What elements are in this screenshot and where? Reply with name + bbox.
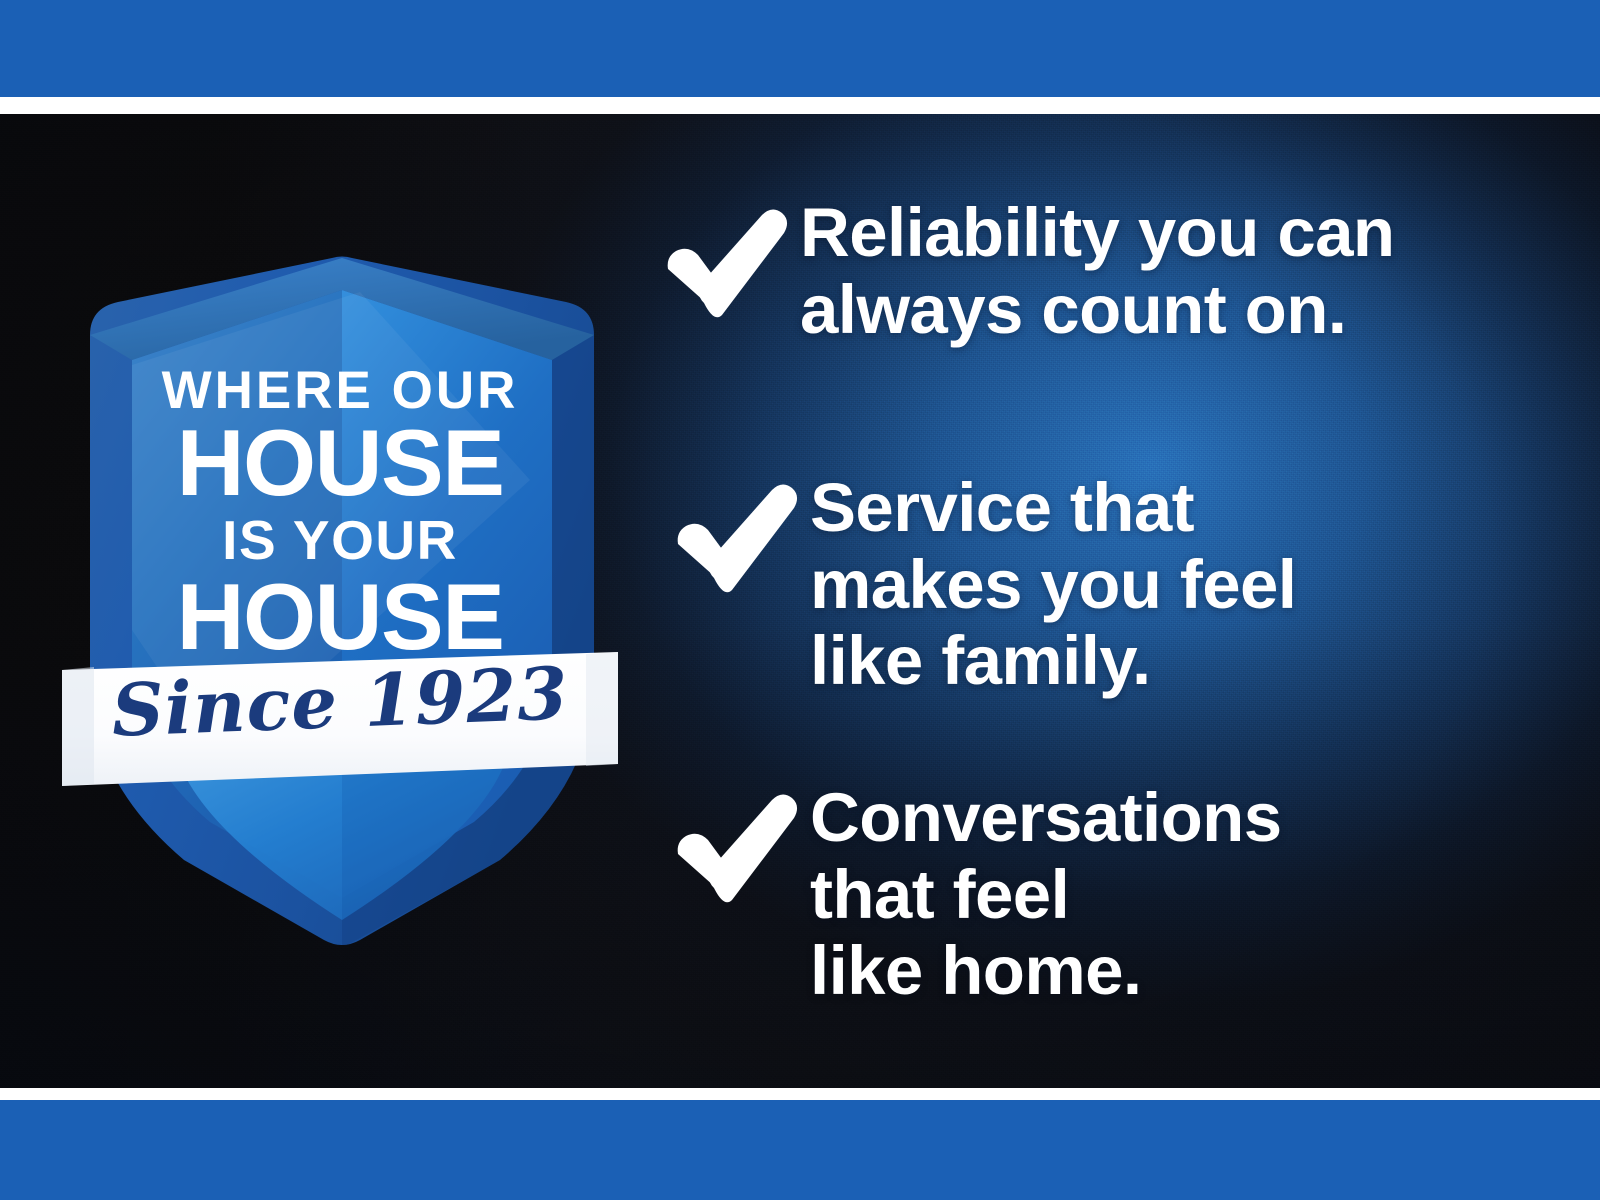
shield-graphic [60, 160, 620, 950]
bottom-brand-bar [0, 1100, 1600, 1200]
promo-graphic: WHERE OUR HOUSE IS YOUR HOUSE Since 1923… [0, 0, 1600, 1200]
checklist-item: Service that makes you feel like family. [670, 470, 1296, 700]
checkmark-icon [670, 792, 810, 922]
checkmark-icon [670, 482, 810, 612]
checklist-item: Reliability you can always count on. [660, 195, 1394, 348]
shield-badge: WHERE OUR HOUSE IS YOUR HOUSE Since 1923 [60, 160, 620, 950]
checklist-item-label: Conversations that feel like home. [810, 780, 1282, 1010]
checklist-item: Conversations that feel like home. [670, 780, 1282, 1010]
top-brand-bar [0, 0, 1600, 97]
checklist-item-label: Reliability you can always count on. [800, 195, 1394, 348]
checkmark-icon [660, 207, 800, 337]
checklist-item-label: Service that makes you feel like family. [810, 470, 1296, 700]
